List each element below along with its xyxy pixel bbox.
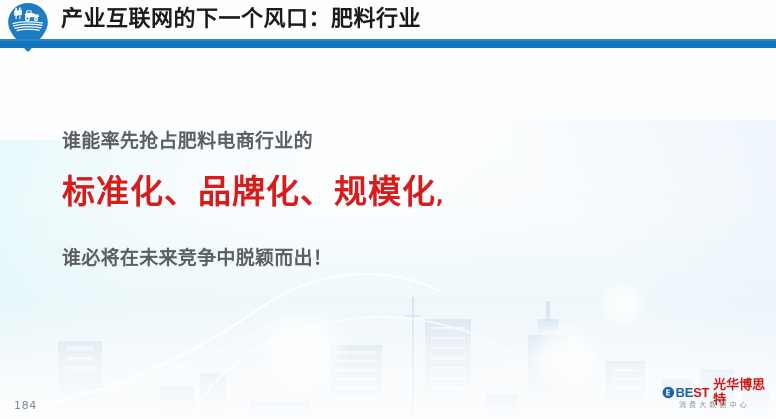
corporate-logo-wordmark: BEST	[676, 385, 709, 400]
slide-root: 产业互联网的下一个风口：肥料行业 谁能率先抢占肥料电商行业的 标准化、品牌化、规…	[0, 0, 776, 419]
page-title: 产业互联网的下一个风口：肥料行业	[61, 5, 421, 35]
body-highlight-comma: ,	[436, 184, 445, 208]
body-line-1: 谁能率先抢占肥料电商行业的	[62, 126, 622, 156]
header-divider-highlight	[0, 39, 776, 41]
best-circle-b-icon	[662, 385, 675, 400]
page-number: 184	[14, 399, 37, 412]
slide-body-text: 谁能率先抢占肥料电商行业的 标准化、品牌化、规模化, 谁必将在未来竞争中脱颖而出…	[62, 126, 622, 273]
corporate-logo-be: BE	[676, 385, 693, 400]
body-highlight-text: 标准化、品牌化、规模化	[62, 172, 436, 211]
background-bottom-haze	[0, 299, 776, 419]
corporate-logo-st: ST	[693, 385, 709, 400]
slide-header: 产业互联网的下一个风口：肥料行业	[0, 0, 776, 48]
corporate-logo: BEST 光华博思特 消费大数据中心	[662, 385, 768, 413]
corporate-logo-tagline: 消费大数据中心	[679, 400, 750, 411]
corporate-logo-primary-row: BEST 光华博思特	[662, 385, 768, 400]
body-line-3: 谁必将在未来竞争中脱颖而出！	[62, 243, 622, 273]
body-highlight-line: 标准化、品牌化、规模化,	[62, 173, 622, 215]
